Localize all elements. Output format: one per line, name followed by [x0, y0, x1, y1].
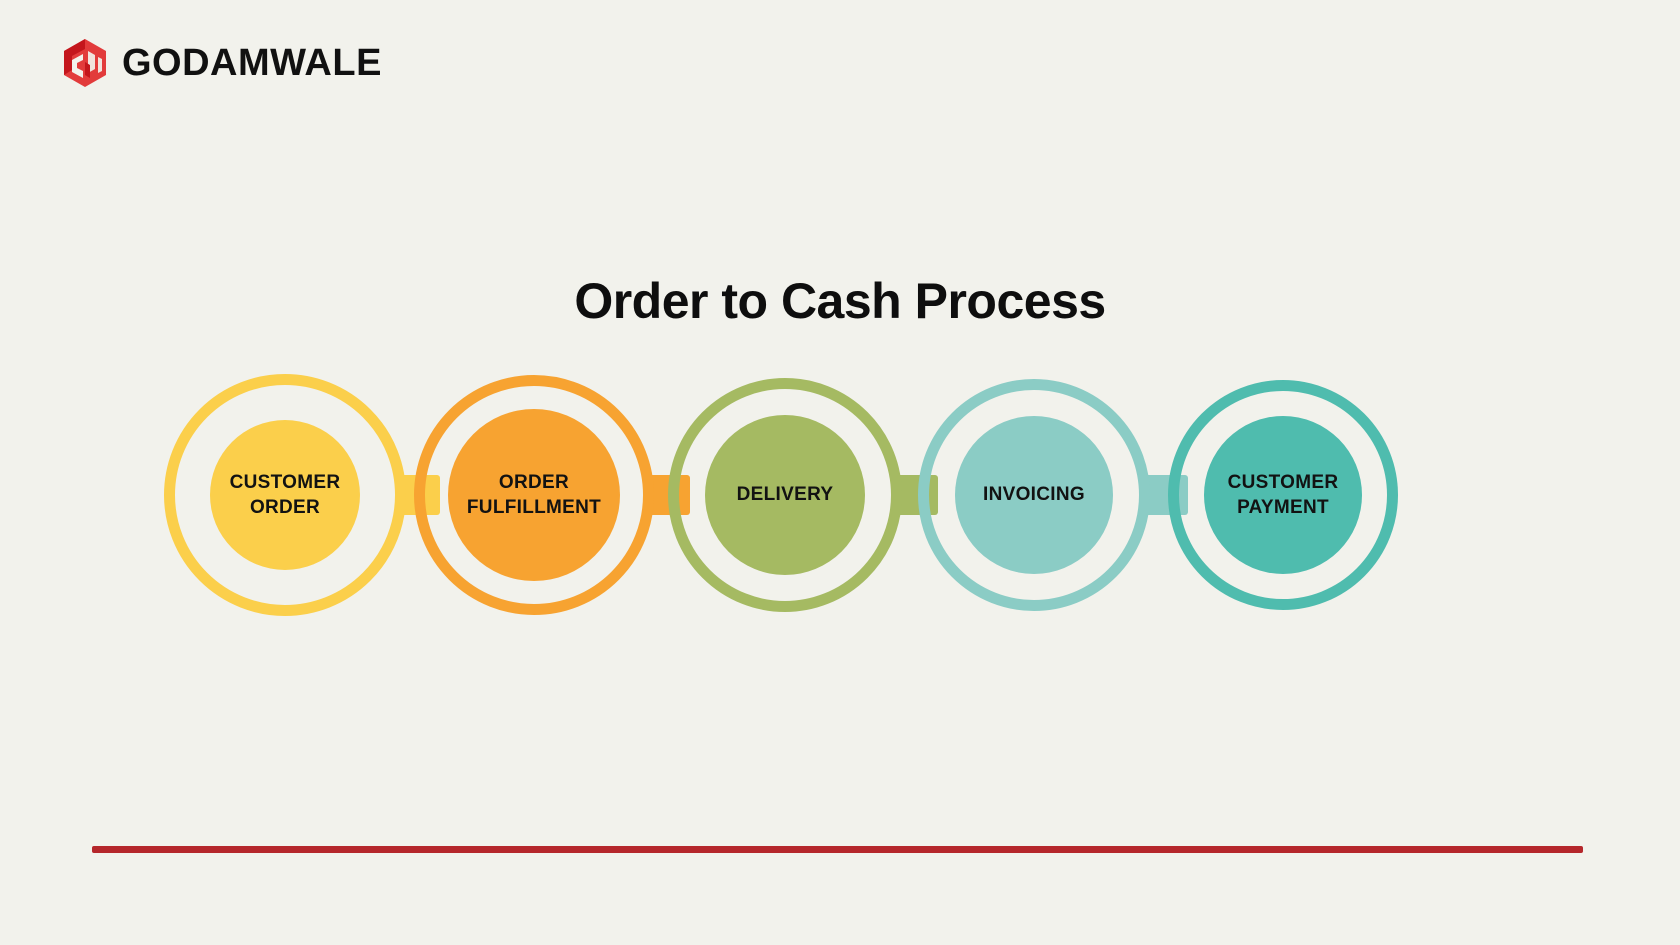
step-4-core: INVOICING — [955, 416, 1113, 574]
process-step-5[interactable]: CUSTOMER PAYMENT — [1168, 380, 1398, 610]
step-4-label: INVOICING — [977, 482, 1091, 507]
step-1-core: CUSTOMER ORDER — [210, 420, 360, 570]
step-2-core: ORDER FULFILLMENT — [448, 409, 620, 581]
step-3-label: DELIVERY — [731, 482, 840, 507]
brand-logo: GODAMWALE — [62, 38, 382, 88]
cube-box-icon — [62, 38, 108, 88]
step-3-core: DELIVERY — [705, 415, 865, 575]
process-step-2[interactable]: ORDER FULFILLMENT — [414, 375, 654, 615]
process-step-4[interactable]: INVOICING — [918, 379, 1150, 611]
process-step-3[interactable]: DELIVERY — [668, 378, 902, 612]
brand-wordmark: GODAMWALE — [122, 44, 382, 82]
step-1-label: CUSTOMER ORDER — [224, 470, 347, 520]
page-title: Order to Cash Process — [0, 274, 1680, 329]
step-5-label: CUSTOMER PAYMENT — [1222, 470, 1345, 520]
footer-accent-rule — [92, 846, 1583, 853]
process-step-1[interactable]: CUSTOMER ORDER — [164, 374, 406, 616]
process-flow-diagram: CUSTOMER ORDER ORDER FULFILLMENT DELIVER… — [0, 360, 1680, 630]
step-2-label: ORDER FULFILLMENT — [461, 470, 607, 520]
step-5-core: CUSTOMER PAYMENT — [1204, 416, 1362, 574]
